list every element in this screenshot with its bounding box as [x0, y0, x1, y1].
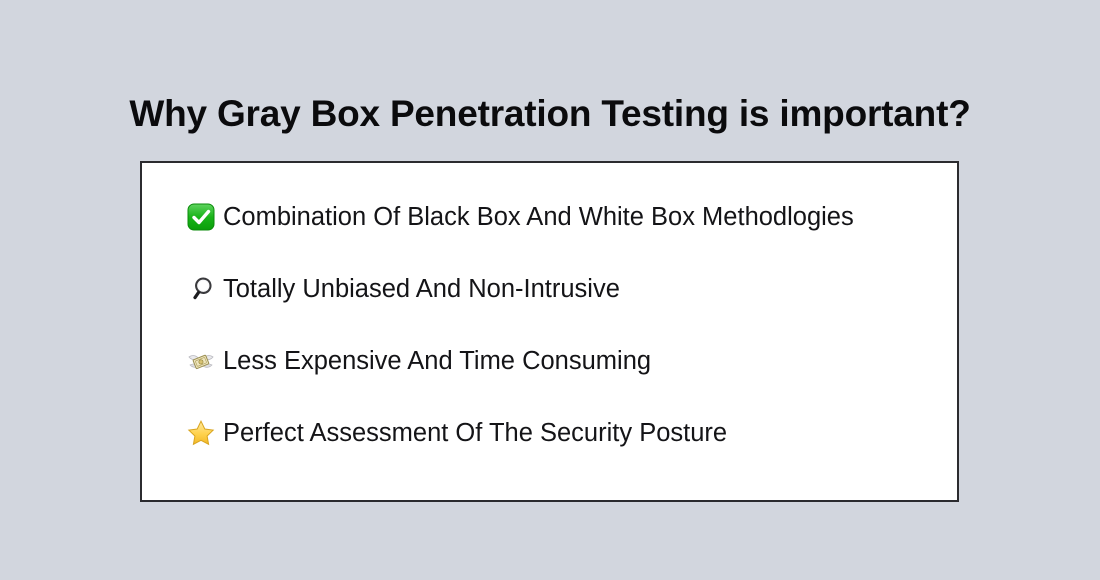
benefits-list: Combination Of Black Box And White Box M… — [185, 195, 937, 455]
list-item: Perfect Assessment Of The Security Postu… — [185, 411, 937, 455]
slide-canvas: Why Gray Box Penetration Testing is impo… — [0, 0, 1100, 580]
list-item-label: Less Expensive And Time Consuming — [223, 346, 651, 377]
list-item: Less Expensive And Time Consuming — [185, 339, 937, 383]
check-mark-button-icon — [185, 201, 217, 233]
list-item-label: Combination Of Black Box And White Box M… — [223, 202, 854, 233]
list-item-label: Totally Unbiased And Non-Intrusive — [223, 274, 620, 305]
money-with-wings-icon — [185, 345, 217, 377]
magnifying-glass-icon — [185, 273, 217, 305]
benefits-card: Combination Of Black Box And White Box M… — [140, 161, 959, 502]
list-item: Combination Of Black Box And White Box M… — [185, 195, 937, 239]
list-item-label: Perfect Assessment Of The Security Postu… — [223, 418, 727, 449]
page-title: Why Gray Box Penetration Testing is impo… — [0, 93, 1100, 136]
list-item: Totally Unbiased And Non-Intrusive — [185, 267, 937, 311]
star-icon — [185, 417, 217, 449]
